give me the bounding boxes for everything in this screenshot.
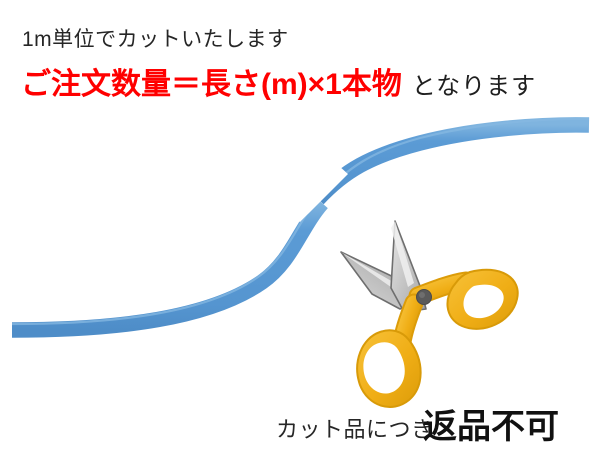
- scissors-pivot: [417, 290, 432, 305]
- order-quantity-text: ご注文数量＝長さ(m)×1本物となります: [21, 70, 536, 100]
- order-quantity-formula: ご注文数量＝長さ(m)×1本物: [21, 68, 402, 101]
- scissors: [341, 221, 518, 407]
- cut-item-note: カット品につき: [276, 419, 434, 441]
- cut-unit-text: 1m単位でカットいたします: [22, 29, 289, 50]
- notice-graphic: 1m単位でカットいたします ご注文数量＝長さ(m)×1本物となります カット品に…: [0, 0, 600, 466]
- order-quantity-suffix: となります: [402, 73, 536, 100]
- scissors-handle-bottom: [357, 303, 420, 407]
- scissors-handle-right: [418, 270, 518, 329]
- no-return-warning: 返品不可: [423, 410, 559, 444]
